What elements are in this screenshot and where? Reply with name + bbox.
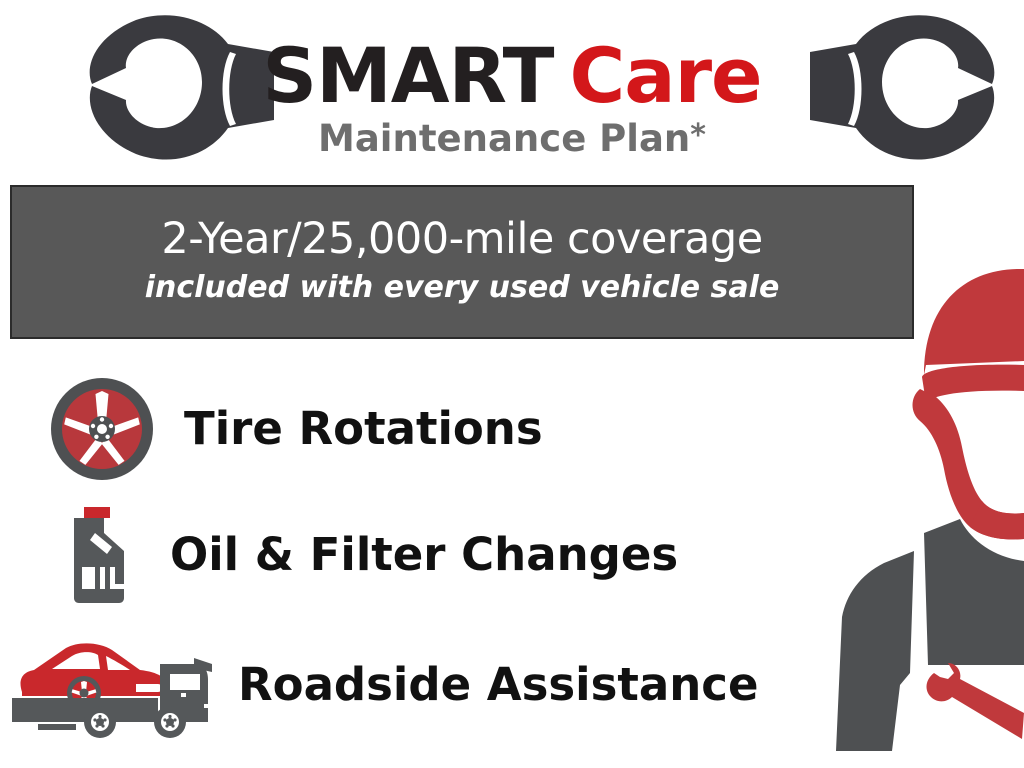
logo-header: SMARTCare Maintenance Plan*	[0, 0, 1024, 182]
coverage-banner-text: 2-Year/25,000-mile coverage included wit…	[12, 187, 912, 306]
feature-item-oil-filter-changes: Oil & Filter Changes	[58, 505, 678, 605]
brand-tagline: Maintenance Plan	[318, 117, 690, 160]
tow-truck-icon	[8, 630, 216, 740]
brand-name-secondary: Care	[570, 31, 762, 120]
smart-care-poster: SMARTCare Maintenance Plan* 2-Year/25,00…	[0, 0, 1024, 768]
tire-icon	[48, 375, 156, 483]
mechanic-illustration	[764, 265, 1024, 768]
brand-name-line: SMARTCare	[0, 36, 1024, 116]
feature-label-oil-filter-changes: Oil & Filter Changes	[170, 530, 678, 580]
feature-item-tire-rotations: Tire Rotations	[48, 375, 543, 483]
feature-item-roadside-assistance: Roadside Assistance	[8, 630, 758, 740]
brand-tagline-line: Maintenance Plan*	[0, 114, 1024, 161]
coverage-banner: 2-Year/25,000-mile coverage included wit…	[10, 185, 914, 339]
brand-name-primary: SMART	[262, 31, 553, 120]
feature-label-tire-rotations: Tire Rotations	[184, 404, 543, 454]
feature-label-roadside-assistance: Roadside Assistance	[238, 660, 758, 710]
oil-jug-icon	[58, 505, 138, 605]
coverage-headline: 2-Year/25,000-mile coverage	[12, 214, 912, 264]
footnote-asterisk: *	[690, 118, 706, 153]
coverage-subhead: included with every used vehicle sale	[12, 270, 912, 306]
logo-wordmark: SMARTCare Maintenance Plan*	[0, 36, 1024, 161]
